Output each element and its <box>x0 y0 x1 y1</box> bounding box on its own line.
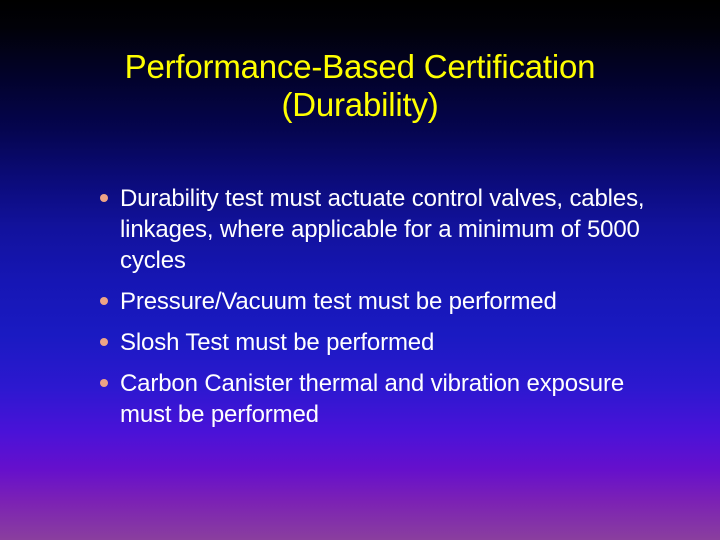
list-item-label: Carbon Canister thermal and vibration ex… <box>120 368 668 430</box>
bullet-dot-icon <box>100 338 108 346</box>
list-item: Slosh Test must be performed <box>98 327 668 358</box>
presentation-slide: Performance-Based Certification (Durabil… <box>0 0 720 540</box>
list-item: Carbon Canister thermal and vibration ex… <box>98 368 668 430</box>
list-item-label: Slosh Test must be performed <box>120 327 668 358</box>
list-item: Pressure/Vacuum test must be performed <box>98 286 668 317</box>
bullet-dot-icon <box>100 194 108 202</box>
slide-title: Performance-Based Certification (Durabil… <box>60 48 660 124</box>
bullet-dot-icon <box>100 379 108 387</box>
list-item-label: Durability test must actuate control val… <box>120 183 668 276</box>
list-item-label: Pressure/Vacuum test must be performed <box>120 286 668 317</box>
list-item: Durability test must actuate control val… <box>98 183 668 276</box>
bullet-dot-icon <box>100 297 108 305</box>
slide-bullet-list: Durability test must actuate control val… <box>98 183 668 430</box>
slide-title-line-2: (Durability) <box>60 86 660 124</box>
slide-title-line-1: Performance-Based Certification <box>60 48 660 86</box>
